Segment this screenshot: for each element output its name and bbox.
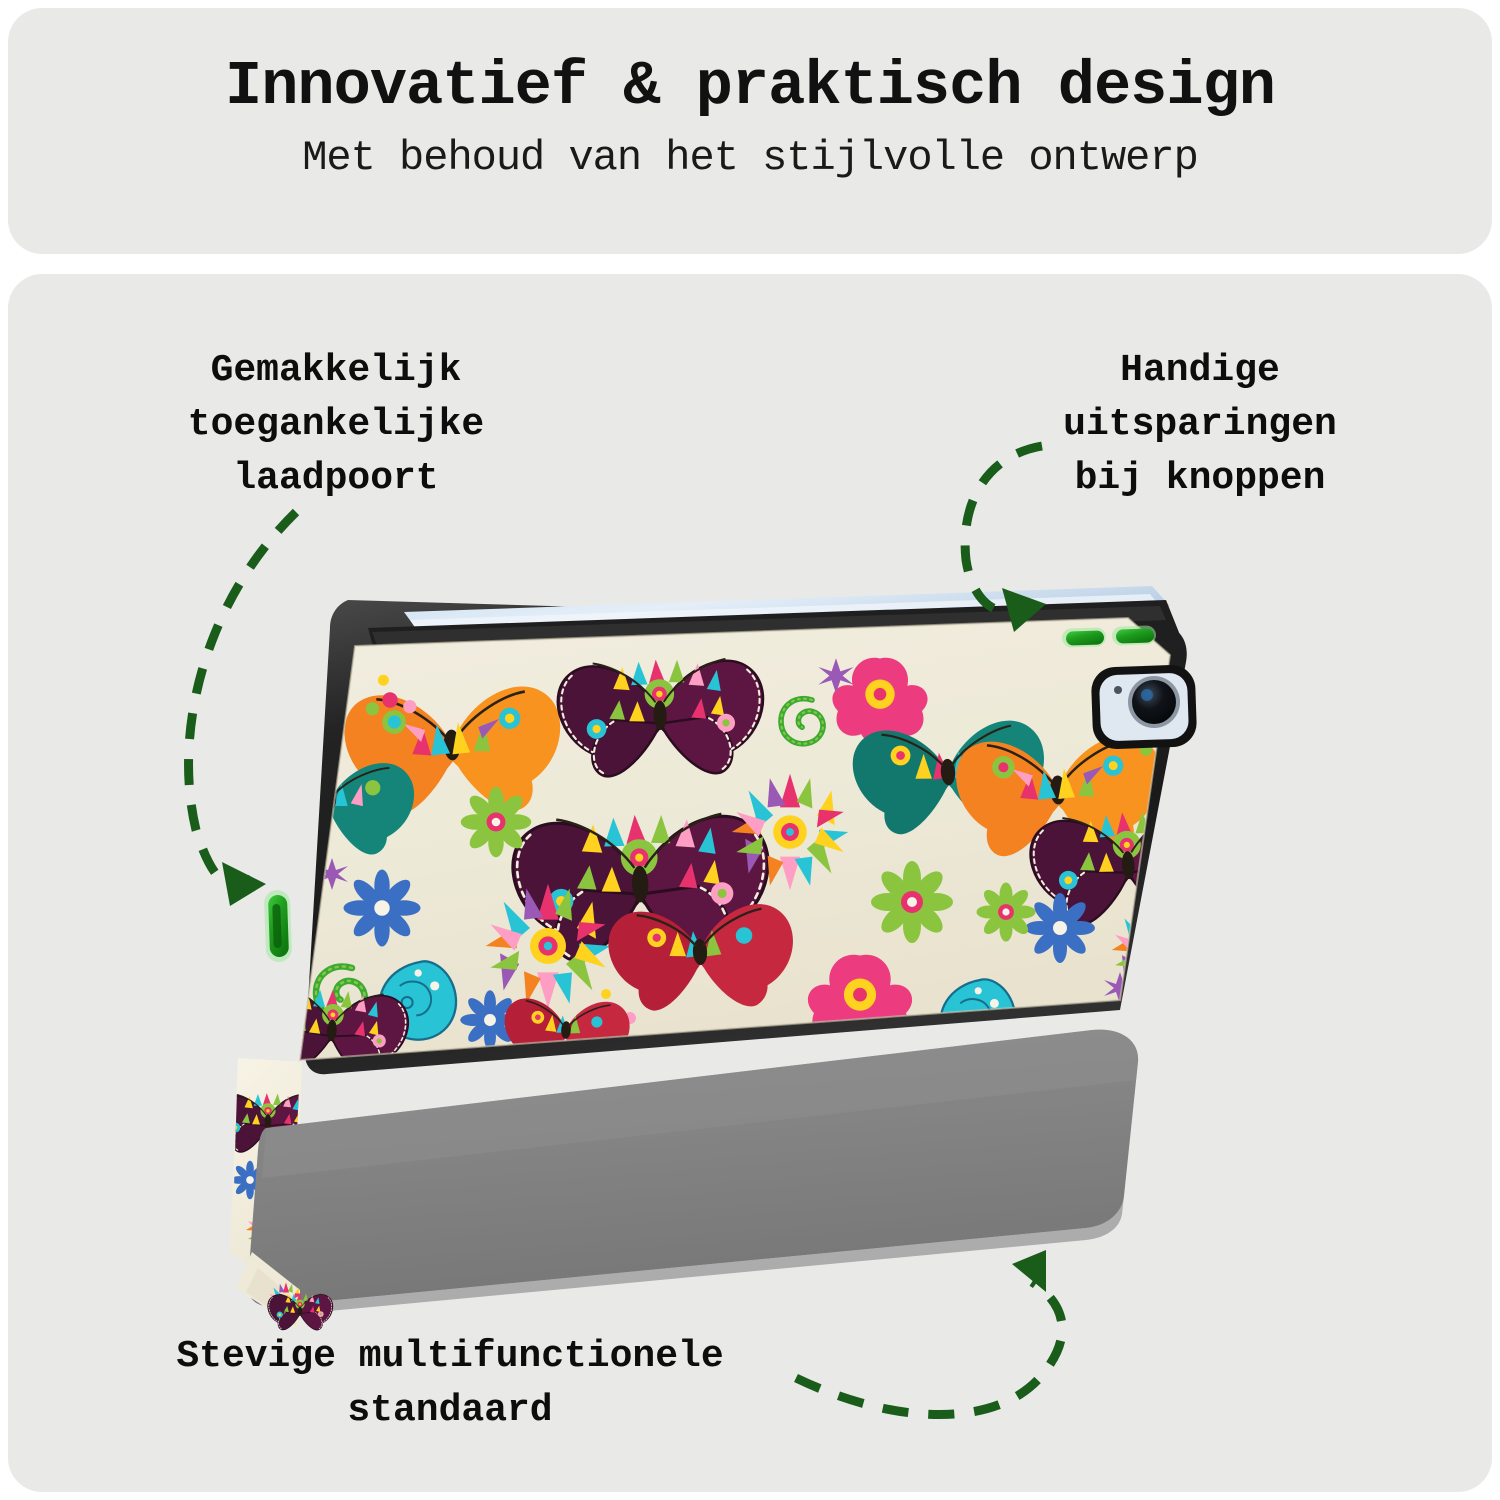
charging-port-highlight [264,890,292,963]
tablet-stand [248,1030,1138,1316]
camera-module [1091,664,1198,750]
product-image [0,0,1500,1500]
